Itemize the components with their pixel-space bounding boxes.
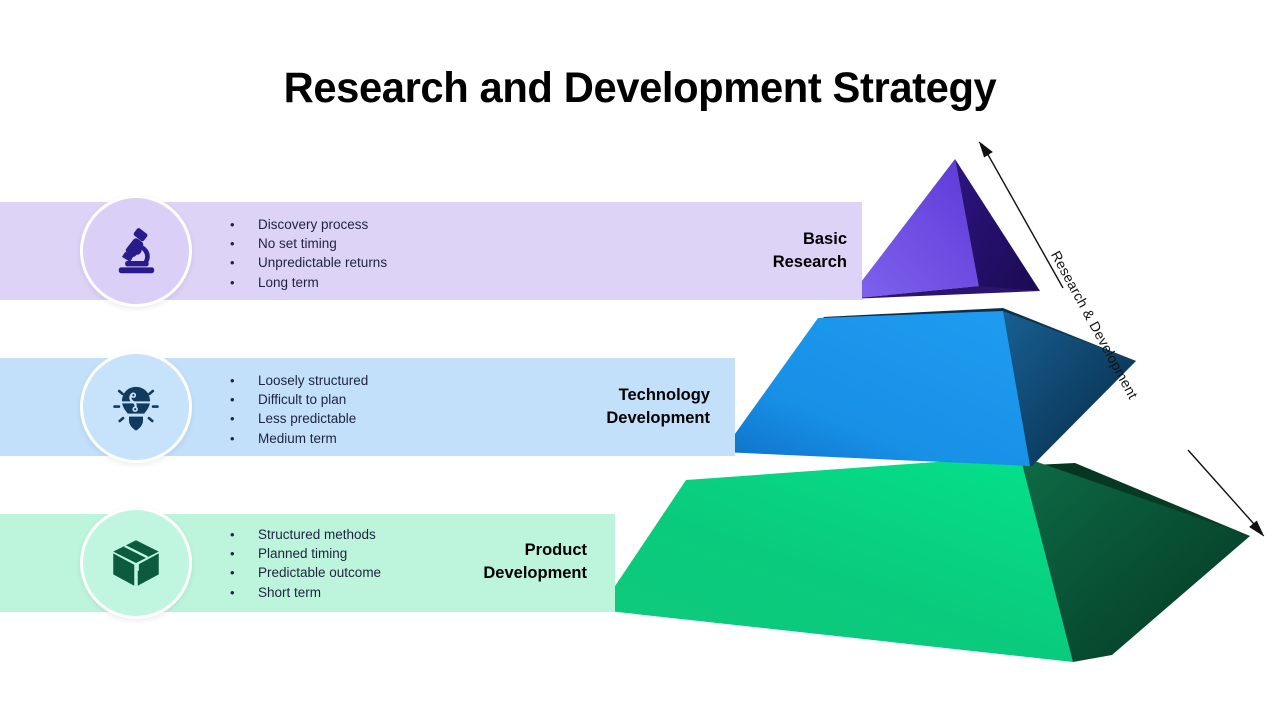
bullet-glyph: • xyxy=(230,215,258,234)
list-item: • Long term xyxy=(230,273,387,292)
list-item: • Short term xyxy=(230,583,381,602)
bullet-glyph: • xyxy=(230,253,258,272)
list-item: • Difficult to plan xyxy=(230,390,368,409)
bullet-glyph: • xyxy=(230,525,258,544)
bullet-glyph: • xyxy=(230,544,258,563)
bullet-glyph: • xyxy=(230,429,258,448)
list-item-label: Long term xyxy=(258,273,319,292)
icon-circle-technology-development xyxy=(80,351,192,463)
icon-circle-basic-research xyxy=(80,195,192,307)
tier-label-product-development: Product Development xyxy=(280,539,587,585)
bullet-glyph: • xyxy=(230,583,258,602)
list-item: • Unpredictable returns xyxy=(230,253,387,272)
bullet-glyph: • xyxy=(230,234,258,253)
list-item-label: Short term xyxy=(258,583,321,602)
tier-label-basic-research: Basic Research xyxy=(600,228,847,274)
list-item: • Medium term xyxy=(230,429,368,448)
list-item-label: Medium term xyxy=(258,429,337,448)
microscope-icon xyxy=(107,222,165,280)
bullet-list-basic-research: • Discovery process • No set timing • Un… xyxy=(230,215,387,292)
bullet-glyph: • xyxy=(230,273,258,292)
bullet-glyph: • xyxy=(230,563,258,582)
pyramid-level-product-development xyxy=(599,456,1250,662)
bullet-glyph: • xyxy=(230,390,258,409)
pyramid-level-basic-research xyxy=(848,159,1040,299)
list-item: • No set timing xyxy=(230,234,387,253)
list-item-label: Unpredictable returns xyxy=(258,253,387,272)
list-item-label: Difficult to plan xyxy=(258,390,346,409)
bullet-glyph: • xyxy=(230,409,258,428)
list-item-label: Loosely structured xyxy=(258,371,368,390)
lightbulb-circuit-icon xyxy=(108,379,164,435)
list-item-label: Less predictable xyxy=(258,409,356,428)
list-item-label: Discovery process xyxy=(258,215,368,234)
list-item-label: No set timing xyxy=(258,234,337,253)
bullet-list-technology-development: • Loosely structured • Difficult to plan… xyxy=(230,371,368,448)
pyramid-level-technology-development xyxy=(722,308,1136,466)
slide-canvas: Research and Development Strategy xyxy=(0,0,1280,720)
bullet-glyph: • xyxy=(230,371,258,390)
tier-label-technology-development: Technology Development xyxy=(400,384,710,430)
list-item: • Discovery process xyxy=(230,215,387,234)
list-item: • Loosely structured xyxy=(230,371,368,390)
list-item: • Less predictable xyxy=(230,409,368,428)
icon-circle-product-development xyxy=(80,507,192,619)
package-box-icon xyxy=(108,535,164,591)
